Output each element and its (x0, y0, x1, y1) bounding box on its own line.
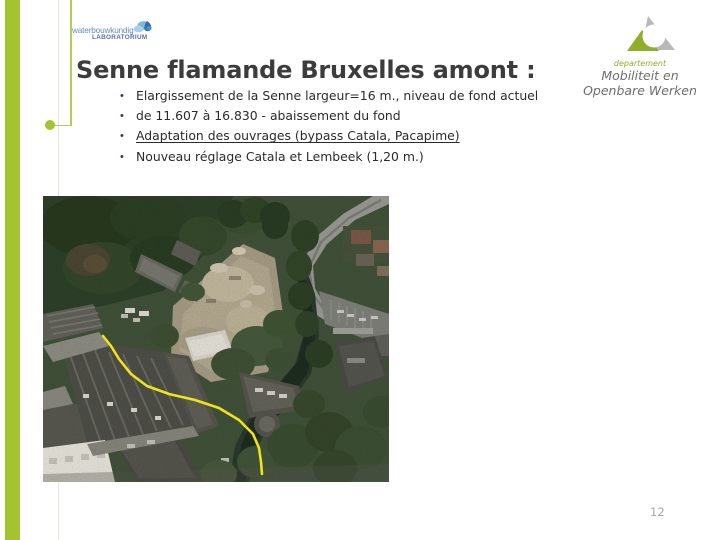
list-item: • Nouveau réglage Catala et Lembeek (1,2… (120, 147, 590, 167)
page-title: Senne flamande Bruxelles amont : (76, 56, 535, 84)
departement-mobiliteit-openbare-werken-logo: departement Mobiliteit en Openbare Werke… (575, 14, 705, 96)
bullet-list: • Elargissement de la Senne largeur=16 m… (120, 86, 590, 167)
list-item: • de 11.607 à 16.830 - abaissement du fo… (120, 106, 590, 126)
bullet-marker-icon: • (120, 86, 136, 106)
left-accent-bar (5, 0, 20, 540)
page-number: 12 (650, 505, 690, 519)
list-item: • Adaptation des ouvrages (bypass Catala… (120, 126, 590, 146)
list-item-label: Elargissement de la Senne largeur=16 m.,… (136, 86, 538, 106)
list-item: • Elargissement de la Senne largeur=16 m… (120, 86, 590, 106)
bullet-marker-icon: • (120, 147, 136, 167)
waterbouwkundig-laboratorium-logo: waterbouwkundig LABORATORIUM (72, 18, 162, 48)
bullet-marker-icon: • (120, 126, 136, 146)
list-item-label-link[interactable]: Adaptation des ouvrages (bypass Catala, … (136, 126, 460, 146)
list-item-label: Nouveau réglage Catala et Lembeek (1,20 … (136, 147, 424, 167)
accent-dot (45, 120, 55, 130)
slide-canvas: waterbouwkundig LABORATORIUM departement… (0, 0, 720, 540)
logo-line-2: LABORATORIUM (92, 34, 148, 41)
logo-line-1: Mobiliteit en (575, 68, 705, 83)
aerial-satellite-photo (43, 196, 389, 482)
logo-line-2: Openbare Werken (575, 83, 705, 98)
flanders-triangle-icon (621, 14, 677, 62)
logo-department-label: departement (575, 59, 705, 68)
list-item-label: de 11.607 à 16.830 - abaissement du fond (136, 106, 401, 126)
bullet-marker-icon: • (120, 106, 136, 126)
